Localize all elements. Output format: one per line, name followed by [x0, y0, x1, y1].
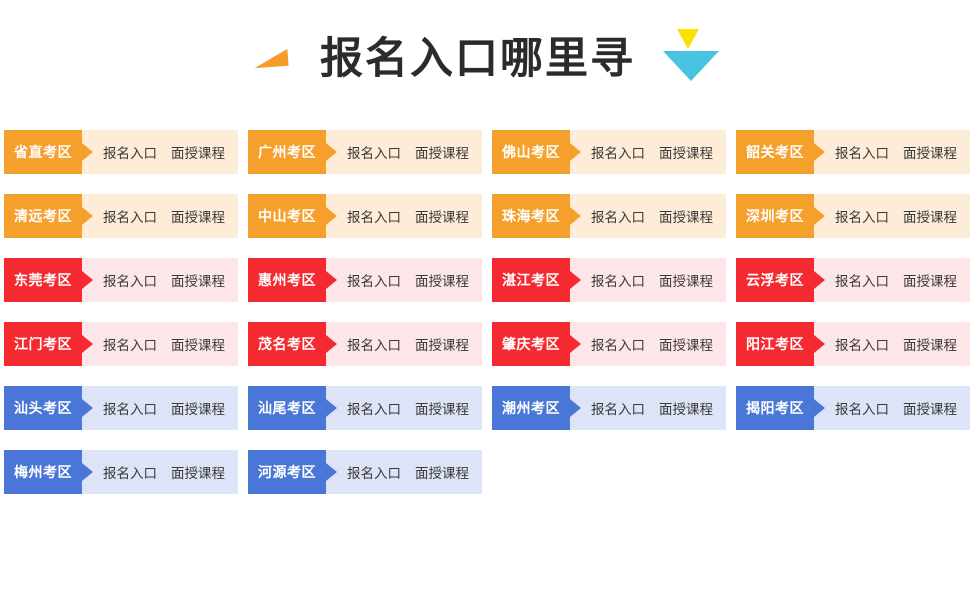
course-link[interactable]: 面授课程 — [903, 142, 957, 162]
region-links: 报名入口面授课程 — [570, 322, 726, 366]
region-cell: 江门考区报名入口面授课程 — [4, 322, 238, 366]
signup-link[interactable]: 报名入口 — [835, 142, 889, 162]
region-links: 报名入口面授课程 — [814, 130, 970, 174]
signup-link[interactable]: 报名入口 — [591, 206, 645, 226]
region-label[interactable]: 汕头考区 — [4, 386, 82, 430]
course-link[interactable]: 面授课程 — [171, 206, 225, 226]
orange-arrow-shape — [253, 49, 288, 68]
signup-link[interactable]: 报名入口 — [591, 398, 645, 418]
region-links: 报名入口面授课程 — [814, 258, 970, 302]
course-link[interactable]: 面授课程 — [415, 398, 469, 418]
course-link[interactable]: 面授课程 — [171, 462, 225, 482]
cyan-triangle-icon — [663, 51, 719, 81]
region-row: 江门考区报名入口面授课程茂名考区报名入口面授课程肇庆考区报名入口面授课程阳江考区… — [4, 322, 973, 366]
signup-link[interactable]: 报名入口 — [591, 334, 645, 354]
region-links: 报名入口面授课程 — [82, 386, 238, 430]
course-link[interactable]: 面授课程 — [171, 270, 225, 290]
course-link[interactable]: 面授课程 — [659, 270, 713, 290]
course-link[interactable]: 面授课程 — [415, 334, 469, 354]
course-link[interactable]: 面授课程 — [659, 334, 713, 354]
region-label[interactable]: 茂名考区 — [248, 322, 326, 366]
region-label[interactable]: 东莞考区 — [4, 258, 82, 302]
signup-link[interactable]: 报名入口 — [835, 270, 889, 290]
signup-link[interactable]: 报名入口 — [835, 398, 889, 418]
region-label[interactable]: 肇庆考区 — [492, 322, 570, 366]
region-cell: 佛山考区报名入口面授课程 — [492, 130, 726, 174]
course-link[interactable]: 面授课程 — [659, 142, 713, 162]
course-link[interactable]: 面授课程 — [415, 206, 469, 226]
course-link[interactable]: 面授课程 — [659, 206, 713, 226]
region-cell: 清远考区报名入口面授课程 — [4, 194, 238, 238]
region-row: 省直考区报名入口面授课程广州考区报名入口面授课程佛山考区报名入口面授课程韶关考区… — [4, 130, 973, 174]
region-label[interactable]: 揭阳考区 — [736, 386, 814, 430]
course-link[interactable]: 面授课程 — [415, 142, 469, 162]
region-grid: 省直考区报名入口面授课程广州考区报名入口面授课程佛山考区报名入口面授课程韶关考区… — [0, 130, 973, 494]
region-cell: 茂名考区报名入口面授课程 — [248, 322, 482, 366]
region-label[interactable]: 韶关考区 — [736, 130, 814, 174]
signup-link[interactable]: 报名入口 — [103, 462, 157, 482]
region-cell: 潮州考区报名入口面授课程 — [492, 386, 726, 430]
region-links: 报名入口面授课程 — [326, 194, 482, 238]
region-links: 报名入口面授课程 — [326, 386, 482, 430]
region-label[interactable]: 珠海考区 — [492, 194, 570, 238]
signup-link[interactable]: 报名入口 — [347, 398, 401, 418]
page-header: 报名入口哪里寻 — [0, 0, 973, 130]
region-cell: 深圳考区报名入口面授课程 — [736, 194, 970, 238]
signup-link[interactable]: 报名入口 — [103, 398, 157, 418]
signup-link[interactable]: 报名入口 — [103, 142, 157, 162]
signup-link[interactable]: 报名入口 — [347, 142, 401, 162]
region-cell: 广州考区报名入口面授课程 — [248, 130, 482, 174]
signup-link[interactable]: 报名入口 — [347, 334, 401, 354]
course-link[interactable]: 面授课程 — [903, 270, 957, 290]
region-links: 报名入口面授课程 — [570, 386, 726, 430]
region-links: 报名入口面授课程 — [326, 130, 482, 174]
signup-link[interactable]: 报名入口 — [103, 270, 157, 290]
region-label[interactable]: 湛江考区 — [492, 258, 570, 302]
region-label[interactable]: 深圳考区 — [736, 194, 814, 238]
region-label[interactable]: 广州考区 — [248, 130, 326, 174]
region-links: 报名入口面授课程 — [82, 450, 238, 494]
region-links: 报名入口面授课程 — [570, 130, 726, 174]
header-inner: 报名入口哪里寻 — [250, 9, 723, 110]
region-cell: 韶关考区报名入口面授课程 — [736, 130, 970, 174]
region-links: 报名入口面授课程 — [326, 258, 482, 302]
region-links: 报名入口面授课程 — [814, 194, 970, 238]
region-label[interactable]: 云浮考区 — [736, 258, 814, 302]
region-cell: 汕头考区报名入口面授课程 — [4, 386, 238, 430]
region-row: 梅州考区报名入口面授课程河源考区报名入口面授课程 — [4, 450, 973, 494]
region-cell: 梅州考区报名入口面授课程 — [4, 450, 238, 494]
region-links: 报名入口面授课程 — [814, 322, 970, 366]
region-row: 汕头考区报名入口面授课程汕尾考区报名入口面授课程潮州考区报名入口面授课程揭阳考区… — [4, 386, 973, 430]
course-link[interactable]: 面授课程 — [659, 398, 713, 418]
orange-arrow-icon — [250, 44, 294, 74]
region-label[interactable]: 惠州考区 — [248, 258, 326, 302]
signup-link[interactable]: 报名入口 — [347, 462, 401, 482]
region-cell: 惠州考区报名入口面授课程 — [248, 258, 482, 302]
triangle-decoration-group — [661, 29, 723, 89]
yellow-triangle-icon — [677, 29, 699, 49]
course-link[interactable]: 面授课程 — [903, 334, 957, 354]
course-link[interactable]: 面授课程 — [415, 462, 469, 482]
course-link[interactable]: 面授课程 — [171, 334, 225, 354]
signup-link[interactable]: 报名入口 — [347, 206, 401, 226]
region-cell: 汕尾考区报名入口面授课程 — [248, 386, 482, 430]
region-cell: 云浮考区报名入口面授课程 — [736, 258, 970, 302]
region-label[interactable]: 潮州考区 — [492, 386, 570, 430]
region-links: 报名入口面授课程 — [82, 258, 238, 302]
region-label[interactable]: 河源考区 — [248, 450, 326, 494]
region-cell: 中山考区报名入口面授课程 — [248, 194, 482, 238]
signup-link[interactable]: 报名入口 — [347, 270, 401, 290]
region-cell: 省直考区报名入口面授课程 — [4, 130, 238, 174]
region-links: 报名入口面授课程 — [326, 450, 482, 494]
region-links: 报名入口面授课程 — [82, 194, 238, 238]
signup-link[interactable]: 报名入口 — [591, 142, 645, 162]
region-label[interactable]: 梅州考区 — [4, 450, 82, 494]
region-links: 报名入口面授课程 — [326, 322, 482, 366]
region-cell: 湛江考区报名入口面授课程 — [492, 258, 726, 302]
signup-link[interactable]: 报名入口 — [835, 206, 889, 226]
region-label[interactable]: 中山考区 — [248, 194, 326, 238]
region-cell: 揭阳考区报名入口面授课程 — [736, 386, 970, 430]
region-links: 报名入口面授课程 — [82, 130, 238, 174]
signup-link[interactable]: 报名入口 — [591, 270, 645, 290]
course-link[interactable]: 面授课程 — [903, 206, 957, 226]
course-link[interactable]: 面授课程 — [171, 398, 225, 418]
region-label[interactable]: 佛山考区 — [492, 130, 570, 174]
signup-link[interactable]: 报名入口 — [103, 206, 157, 226]
course-link[interactable]: 面授课程 — [171, 142, 225, 162]
region-row: 清远考区报名入口面授课程中山考区报名入口面授课程珠海考区报名入口面授课程深圳考区… — [4, 194, 973, 238]
page-title: 报名入口哪里寻 — [320, 38, 635, 81]
region-label[interactable]: 江门考区 — [4, 322, 82, 366]
signup-link[interactable]: 报名入口 — [103, 334, 157, 354]
region-cell: 阳江考区报名入口面授课程 — [736, 322, 970, 366]
region-cell: 河源考区报名入口面授课程 — [248, 450, 482, 494]
region-cell: 东莞考区报名入口面授课程 — [4, 258, 238, 302]
region-label[interactable]: 清远考区 — [4, 194, 82, 238]
region-cell: 肇庆考区报名入口面授课程 — [492, 322, 726, 366]
region-cell: 珠海考区报名入口面授课程 — [492, 194, 726, 238]
signup-link[interactable]: 报名入口 — [835, 334, 889, 354]
course-link[interactable]: 面授课程 — [903, 398, 957, 418]
region-row: 东莞考区报名入口面授课程惠州考区报名入口面授课程湛江考区报名入口面授课程云浮考区… — [4, 258, 973, 302]
region-label[interactable]: 阳江考区 — [736, 322, 814, 366]
region-links: 报名入口面授课程 — [570, 194, 726, 238]
region-links: 报名入口面授课程 — [82, 322, 238, 366]
region-links: 报名入口面授课程 — [570, 258, 726, 302]
region-links: 报名入口面授课程 — [814, 386, 970, 430]
course-link[interactable]: 面授课程 — [415, 270, 469, 290]
region-label[interactable]: 汕尾考区 — [248, 386, 326, 430]
region-label[interactable]: 省直考区 — [4, 130, 82, 174]
